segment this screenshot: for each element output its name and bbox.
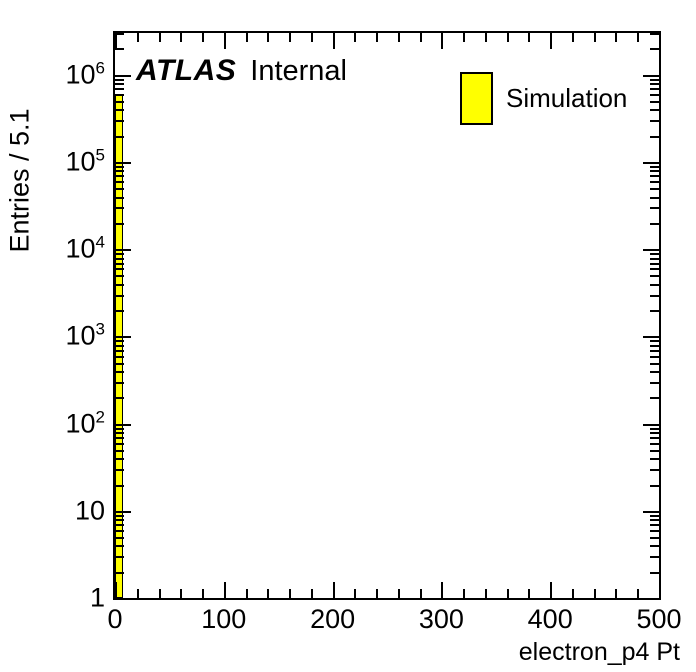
axis-tick xyxy=(650,432,659,434)
axis-tick xyxy=(650,537,659,539)
root-canvas: Entries / 5.1 110102103104105106 ATLASIn… xyxy=(0,0,696,672)
axis-tick xyxy=(650,268,659,270)
axis-tick xyxy=(650,101,659,103)
axis-tick xyxy=(180,589,182,598)
axis-tick xyxy=(115,556,124,558)
axis-tick xyxy=(202,33,204,42)
axis-tick xyxy=(115,170,124,172)
axis-tick xyxy=(615,33,617,42)
axis-tick xyxy=(115,284,124,286)
axis-tick xyxy=(650,197,659,199)
axis-tick xyxy=(115,336,131,338)
x-tick-label: 400 xyxy=(528,606,573,633)
axis-tick xyxy=(115,537,124,539)
axis-tick xyxy=(354,589,356,598)
x-axis-title: electron_p4 Pt xyxy=(519,638,680,667)
axis-tick xyxy=(507,33,509,42)
axis-tick xyxy=(333,582,335,598)
axis-tick xyxy=(650,382,659,384)
axis-tick xyxy=(650,345,659,347)
axis-tick xyxy=(115,109,124,111)
axis-tick xyxy=(650,83,659,85)
y-tick-label: 106 xyxy=(0,61,105,88)
axis-tick xyxy=(650,94,659,96)
plot-area: ATLASInternal Simulation xyxy=(115,33,659,598)
axis-tick xyxy=(398,33,400,42)
axis-tick xyxy=(115,515,124,517)
axis-tick xyxy=(354,33,356,42)
axis-tick xyxy=(650,371,659,373)
axis-tick xyxy=(528,589,530,598)
axis-tick xyxy=(115,33,124,35)
legend-label-simulation: Simulation xyxy=(506,83,627,114)
axis-tick xyxy=(650,437,659,439)
axis-tick xyxy=(224,33,226,49)
axis-tick xyxy=(650,136,659,138)
axis-tick xyxy=(115,340,124,342)
axis-tick xyxy=(311,589,313,598)
axis-tick xyxy=(650,295,659,297)
axis-tick xyxy=(441,582,443,598)
y-tick-label: 104 xyxy=(0,236,105,263)
axis-tick xyxy=(650,284,659,286)
axis-tick xyxy=(463,589,465,598)
y-tick-label: 10 xyxy=(0,497,105,524)
axis-tick xyxy=(115,371,124,373)
axis-tick xyxy=(246,33,248,42)
axis-tick xyxy=(507,589,509,598)
axis-tick xyxy=(650,181,659,183)
plot-frame: ATLASInternal Simulation xyxy=(113,31,661,600)
axis-tick xyxy=(115,443,124,445)
legend: Simulation xyxy=(460,72,627,125)
axis-tick xyxy=(137,589,139,598)
axis-tick xyxy=(376,589,378,598)
axis-tick xyxy=(643,336,659,338)
axis-tick xyxy=(289,589,291,598)
y-tick-label: 102 xyxy=(0,410,105,437)
axis-tick xyxy=(420,33,422,42)
axis-tick xyxy=(650,188,659,190)
axis-tick xyxy=(650,175,659,177)
y-axis-title-text: Entries / 5.1 xyxy=(5,108,36,252)
axis-tick xyxy=(115,188,124,190)
axis-tick xyxy=(115,524,124,526)
axis-tick xyxy=(115,166,124,168)
atlas-experiment-text: ATLAS xyxy=(136,54,236,87)
axis-tick xyxy=(650,170,659,172)
axis-tick xyxy=(202,589,204,598)
axis-tick xyxy=(420,589,422,598)
axis-tick xyxy=(115,572,124,574)
axis-tick xyxy=(650,443,659,445)
axis-tick xyxy=(650,469,659,471)
axis-tick xyxy=(594,33,596,42)
axis-tick xyxy=(637,589,639,598)
axis-tick xyxy=(115,48,124,50)
axis-tick xyxy=(115,437,124,439)
axis-tick xyxy=(115,275,124,277)
axis-tick xyxy=(650,556,659,558)
y-tick-label: 103 xyxy=(0,323,105,350)
axis-tick xyxy=(115,223,124,225)
axis-tick xyxy=(650,524,659,526)
axis-tick xyxy=(650,350,659,352)
axis-tick xyxy=(115,485,124,487)
axis-tick xyxy=(550,33,552,49)
axis-tick xyxy=(115,397,124,399)
atlas-status-text: Internal xyxy=(250,55,347,87)
axis-tick xyxy=(115,249,131,251)
axis-tick xyxy=(115,181,124,183)
axis-tick xyxy=(615,589,617,598)
axis-tick xyxy=(115,424,131,426)
y-tick-label: 1 xyxy=(0,585,105,612)
axis-tick xyxy=(311,33,313,42)
axis-tick xyxy=(650,223,659,225)
axis-tick xyxy=(650,263,659,265)
axis-tick xyxy=(650,79,659,81)
axis-tick xyxy=(650,275,659,277)
axis-tick xyxy=(594,589,596,598)
axis-tick xyxy=(650,356,659,358)
axis-tick xyxy=(650,33,659,35)
axis-tick xyxy=(115,197,124,199)
axis-tick xyxy=(650,166,659,168)
axis-tick xyxy=(115,458,124,460)
axis-tick xyxy=(115,207,124,209)
axis-tick xyxy=(115,88,124,90)
axis-tick xyxy=(650,258,659,260)
axis-tick xyxy=(115,356,124,358)
axis-tick xyxy=(115,345,124,347)
axis-tick xyxy=(572,33,574,42)
atlas-label: ATLASInternal xyxy=(136,56,347,86)
axis-tick xyxy=(115,432,124,434)
axis-tick xyxy=(115,94,124,96)
axis-tick xyxy=(180,33,182,42)
axis-tick xyxy=(650,519,659,521)
x-tick-label: 0 xyxy=(107,606,122,633)
axis-tick xyxy=(650,48,659,50)
axis-tick xyxy=(115,450,124,452)
axis-tick xyxy=(115,519,124,521)
axis-tick xyxy=(115,545,124,547)
axis-tick xyxy=(650,545,659,547)
axis-tick xyxy=(159,33,161,42)
axis-tick xyxy=(137,33,139,42)
axis-tick xyxy=(115,75,131,77)
axis-tick xyxy=(650,397,659,399)
axis-tick xyxy=(463,33,465,42)
axis-tick xyxy=(115,469,124,471)
axis-tick xyxy=(115,511,131,513)
axis-tick xyxy=(485,33,487,42)
axis-tick xyxy=(115,363,124,365)
axis-tick xyxy=(246,589,248,598)
axis-tick xyxy=(333,33,335,49)
axis-tick xyxy=(115,428,124,430)
axis-tick xyxy=(650,253,659,255)
axis-tick xyxy=(643,162,659,164)
axis-tick xyxy=(643,75,659,77)
axis-tick xyxy=(115,530,124,532)
axis-tick xyxy=(115,175,124,177)
axis-tick xyxy=(115,253,124,255)
axis-tick xyxy=(267,589,269,598)
axis-tick xyxy=(115,310,124,312)
axis-tick xyxy=(650,572,659,574)
legend-swatch-simulation xyxy=(460,72,493,125)
axis-tick xyxy=(376,33,378,42)
axis-tick xyxy=(650,450,659,452)
axis-tick xyxy=(398,589,400,598)
axis-tick xyxy=(115,79,124,81)
axis-tick xyxy=(115,295,124,297)
axis-tick xyxy=(115,33,117,49)
axis-tick xyxy=(643,249,659,251)
axis-tick xyxy=(289,33,291,42)
axis-tick xyxy=(224,582,226,598)
axis-tick xyxy=(650,340,659,342)
axis-tick xyxy=(115,582,117,598)
axis-tick xyxy=(441,33,443,49)
axis-tick xyxy=(528,33,530,42)
axis-tick xyxy=(550,582,552,598)
axis-tick xyxy=(115,101,124,103)
axis-tick xyxy=(650,88,659,90)
axis-tick xyxy=(572,589,574,598)
axis-tick xyxy=(650,120,659,122)
y-tick-label: 105 xyxy=(0,148,105,175)
axis-tick xyxy=(650,310,659,312)
axis-tick xyxy=(650,109,659,111)
axis-tick xyxy=(115,136,124,138)
axis-tick xyxy=(650,515,659,517)
axis-tick xyxy=(267,33,269,42)
axis-tick xyxy=(650,428,659,430)
axis-tick xyxy=(650,458,659,460)
axis-tick xyxy=(485,589,487,598)
x-tick-label: 100 xyxy=(201,606,246,633)
axis-tick xyxy=(159,589,161,598)
axis-tick xyxy=(650,485,659,487)
x-tick-label: 300 xyxy=(419,606,464,633)
axis-tick xyxy=(115,258,124,260)
axis-tick xyxy=(115,120,124,122)
axis-tick xyxy=(115,263,124,265)
axis-tick xyxy=(643,511,659,513)
axis-tick xyxy=(115,268,124,270)
axis-tick xyxy=(115,162,131,164)
axis-tick xyxy=(115,350,124,352)
axis-tick xyxy=(650,530,659,532)
axis-tick xyxy=(115,83,124,85)
axis-tick xyxy=(650,363,659,365)
axis-tick xyxy=(115,382,124,384)
axis-tick xyxy=(643,424,659,426)
axis-tick xyxy=(637,33,639,42)
axis-tick xyxy=(650,207,659,209)
x-tick-label: 200 xyxy=(310,606,355,633)
x-tick-label: 500 xyxy=(636,606,681,633)
